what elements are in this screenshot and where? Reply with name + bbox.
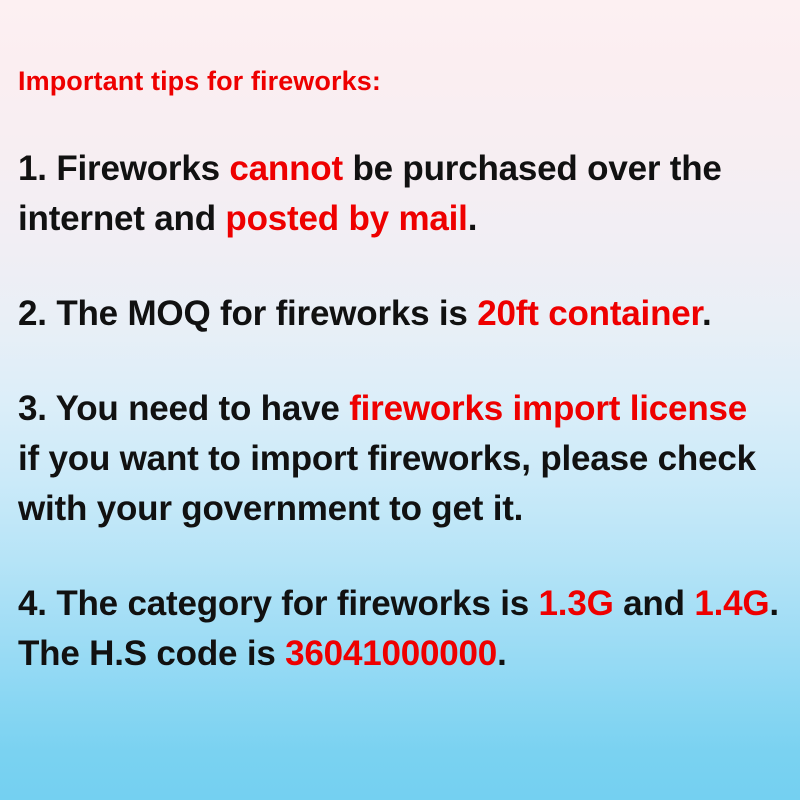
tip-line: 2. The MOQ for fireworks is 20ft contain… bbox=[18, 289, 790, 339]
body-text: . bbox=[497, 634, 507, 673]
tip-line: 1. Fireworks cannot be purchased over th… bbox=[18, 144, 790, 194]
body-text: 3. You need to have bbox=[18, 389, 349, 428]
highlighted-text: 1.4G bbox=[694, 584, 769, 623]
body-text: if you want to import fireworks, please … bbox=[18, 439, 756, 478]
tip-item-4: 4. The category for fireworks is 1.3G an… bbox=[18, 579, 790, 679]
tip-item-1: 1. Fireworks cannot be purchased over th… bbox=[18, 144, 790, 244]
highlighted-text: 36041000000 bbox=[285, 634, 497, 673]
body-text: 4. The category for fireworks is bbox=[18, 584, 539, 623]
highlighted-text: cannot bbox=[229, 149, 343, 188]
tip-line: internet and posted by mail. bbox=[18, 194, 790, 244]
highlighted-text: 1.3G bbox=[539, 584, 614, 623]
body-text: and bbox=[614, 584, 695, 623]
poster-content: Important tips for fireworks: 1. Firewor… bbox=[18, 62, 790, 679]
tip-item-3: 3. You need to have fireworks import lic… bbox=[18, 384, 790, 534]
tip-line: 3. You need to have fireworks import lic… bbox=[18, 384, 790, 434]
tip-item-2: 2. The MOQ for fireworks is 20ft contain… bbox=[18, 289, 790, 339]
highlighted-text: 20ft container bbox=[477, 294, 702, 333]
tip-line: The H.S code is 36041000000. bbox=[18, 629, 790, 679]
body-text: be purchased over the bbox=[343, 149, 722, 188]
body-text: The H.S code is bbox=[18, 634, 285, 673]
tip-line: with your government to get it. bbox=[18, 484, 790, 534]
body-text: 2. The MOQ for fireworks is bbox=[18, 294, 477, 333]
body-text: with your government to get it. bbox=[18, 489, 523, 528]
tip-line: if you want to import fireworks, please … bbox=[18, 434, 790, 484]
highlighted-text: posted by mail bbox=[225, 199, 467, 238]
body-text: 1. Fireworks bbox=[18, 149, 229, 188]
body-text: internet and bbox=[18, 199, 225, 238]
body-text: . bbox=[769, 584, 779, 623]
body-text: . bbox=[702, 294, 712, 333]
body-text: . bbox=[468, 199, 478, 238]
tip-line: 4. The category for fireworks is 1.3G an… bbox=[18, 579, 790, 629]
page-title: Important tips for fireworks: bbox=[18, 62, 790, 100]
highlighted-text: fireworks import license bbox=[349, 389, 747, 428]
tips-list: 1. Fireworks cannot be purchased over th… bbox=[18, 144, 790, 679]
fireworks-tips-poster: Important tips for fireworks: 1. Firewor… bbox=[0, 0, 800, 800]
